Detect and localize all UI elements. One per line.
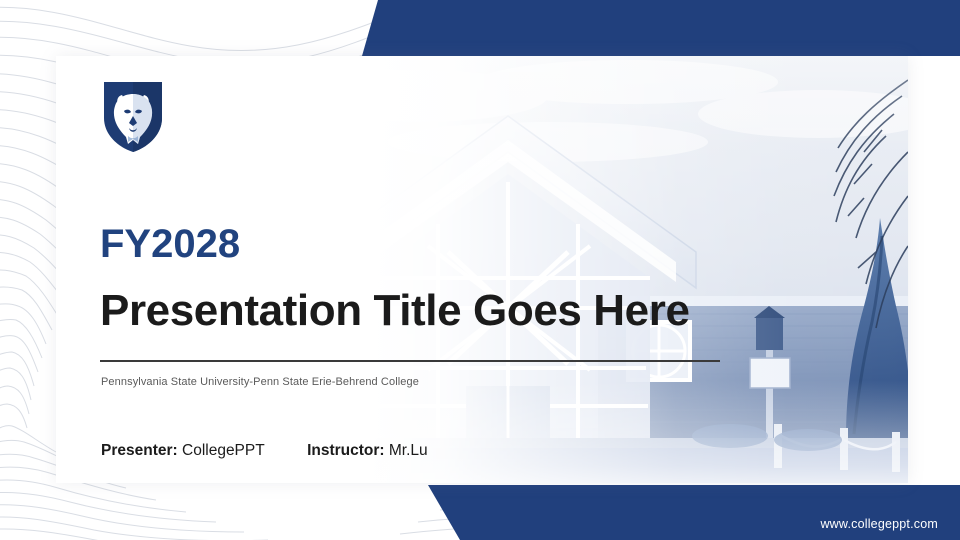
- title-divider: [100, 360, 720, 362]
- penn-state-shield-logo: [100, 78, 166, 154]
- fiscal-year-label: FY2028: [100, 224, 240, 264]
- presenter-label: Presenter:: [101, 442, 178, 459]
- top-navy-band: [0, 0, 960, 60]
- campus-photo: [298, 56, 908, 483]
- institution-subtitle: Pennsylvania State University-Penn State…: [101, 376, 419, 388]
- instructor-value: Mr.Lu: [389, 442, 428, 459]
- content-card: FY2028 Presentation Title Goes Here Penn…: [56, 56, 908, 483]
- footer-website-url: www.collegeppt.com: [820, 517, 938, 531]
- byline: Presenter: CollegePPT Instructor: Mr.Lu: [101, 442, 428, 460]
- bottom-navy-band: [0, 478, 960, 540]
- presenter-value: CollegePPT: [182, 442, 264, 459]
- page-title: Presentation Title Goes Here: [100, 288, 690, 334]
- instructor-label: Instructor:: [307, 442, 385, 459]
- presentation-slide: FY2028 Presentation Title Goes Here Penn…: [0, 0, 960, 540]
